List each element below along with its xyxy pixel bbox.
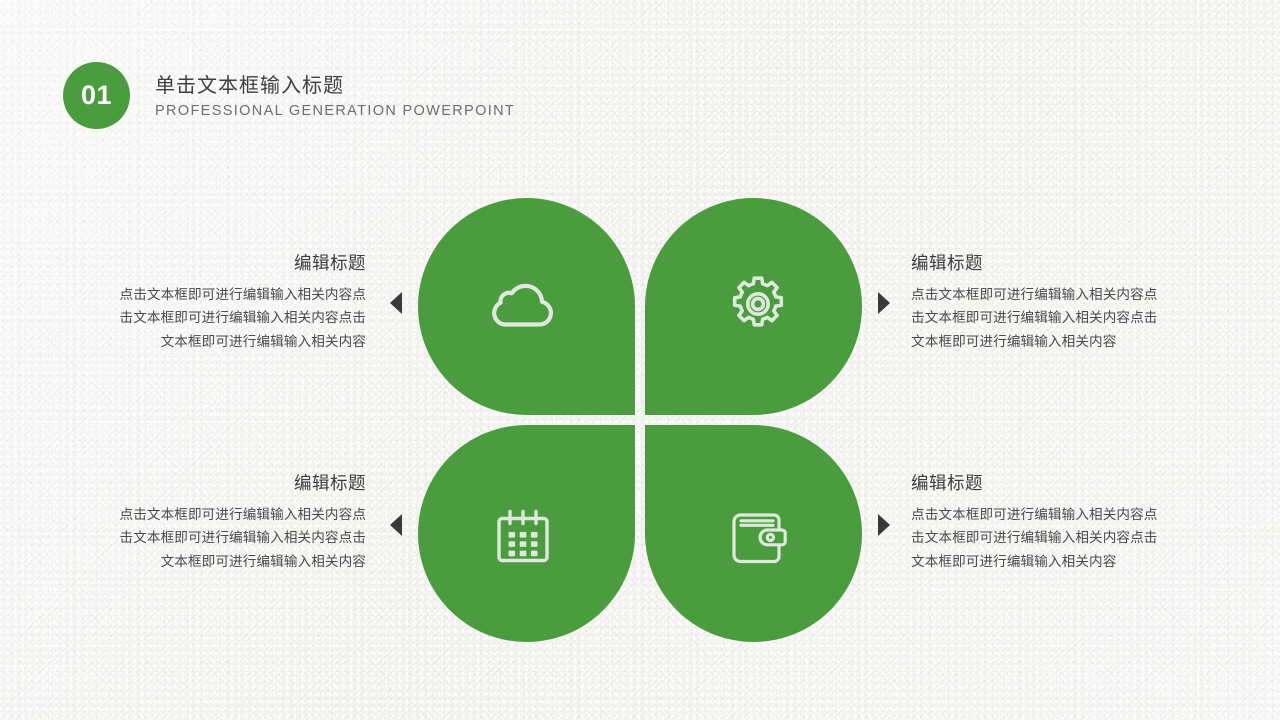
left-triangle-icon: [390, 292, 402, 314]
wallet-icon: [719, 502, 789, 566]
page-title: 单击文本框输入标题: [155, 73, 515, 100]
right-triangle-icon: [878, 514, 890, 536]
text-block-top-left: 编辑标题 点击文本框即可进行编辑输入相关内容点击文本框即可进行编辑输入相关内容点…: [114, 252, 366, 353]
cloud-icon: [490, 278, 564, 336]
header-text-group: 单击文本框输入标题 PROFESSIONAL GENERATION POWERP…: [155, 73, 515, 119]
block-body: 点击文本框即可进行编辑输入相关内容点击文本框即可进行编辑输入相关内容点击文本框即…: [911, 503, 1163, 573]
clover-diagram: [418, 198, 862, 642]
petal-bottom-left[interactable]: [418, 425, 635, 642]
slide-header: 01 单击文本框输入标题 PROFESSIONAL GENERATION POW…: [63, 62, 515, 129]
block-title: 编辑标题: [911, 472, 1163, 495]
page-subtitle: PROFESSIONAL GENERATION POWERPOINT: [155, 103, 515, 119]
text-block-bottom-right: 编辑标题 点击文本框即可进行编辑输入相关内容点击文本框即可进行编辑输入相关内容点…: [911, 472, 1163, 573]
section-number-badge: 01: [63, 62, 130, 129]
block-title: 编辑标题: [114, 472, 366, 495]
block-title: 编辑标题: [911, 252, 1163, 275]
section-number-label: 01: [81, 82, 112, 109]
petal-top-right[interactable]: [645, 198, 862, 415]
left-triangle-icon: [390, 514, 402, 536]
block-title: 编辑标题: [114, 252, 366, 275]
text-block-bottom-left: 编辑标题 点击文本框即可进行编辑输入相关内容点击文本框即可进行编辑输入相关内容点…: [114, 472, 366, 573]
gear-icon: [720, 274, 788, 340]
block-body: 点击文本框即可进行编辑输入相关内容点击文本框即可进行编辑输入相关内容点击文本框即…: [911, 283, 1163, 353]
block-body: 点击文本框即可进行编辑输入相关内容点击文本框即可进行编辑输入相关内容点击文本框即…: [114, 503, 366, 573]
text-block-top-right: 编辑标题 点击文本框即可进行编辑输入相关内容点击文本框即可进行编辑输入相关内容点…: [911, 252, 1163, 353]
block-body: 点击文本框即可进行编辑输入相关内容点击文本框即可进行编辑输入相关内容点击文本框即…: [114, 283, 366, 353]
calendar-icon: [493, 501, 561, 567]
slide-canvas: 01 单击文本框输入标题 PROFESSIONAL GENERATION POW…: [0, 0, 1280, 720]
petal-top-left[interactable]: [418, 198, 635, 415]
petal-bottom-right[interactable]: [645, 425, 862, 642]
right-triangle-icon: [878, 292, 890, 314]
